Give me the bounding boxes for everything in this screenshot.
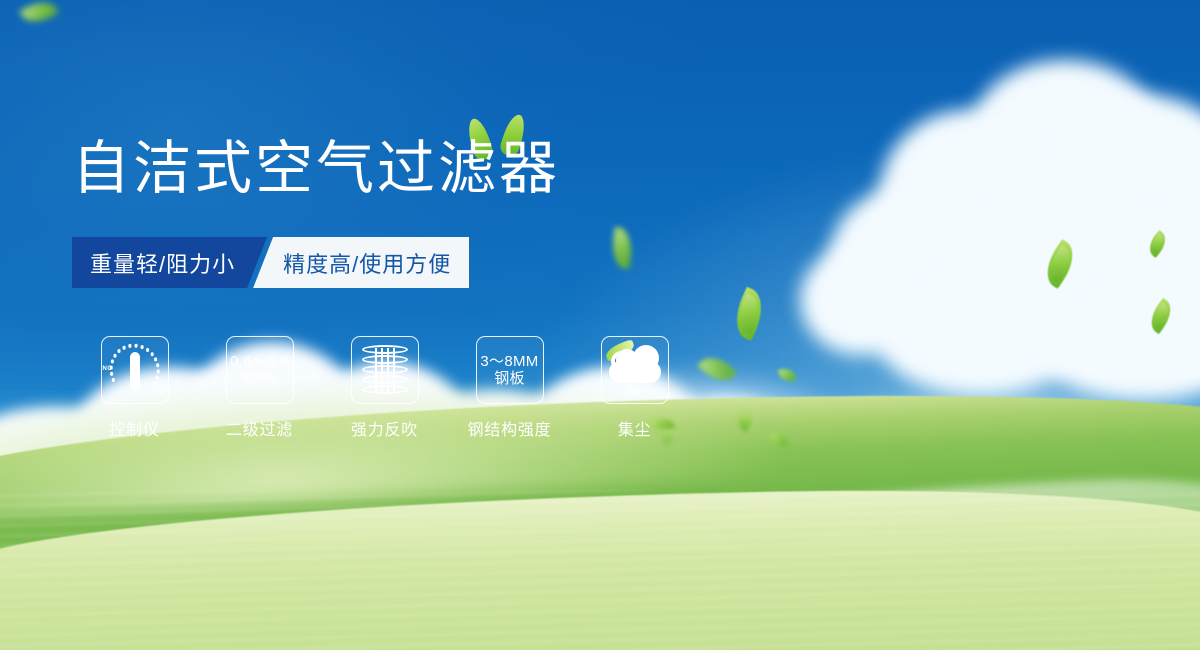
feature-icon-box: Air: [601, 336, 669, 404]
pressure-value-line2: MPA: [230, 370, 289, 387]
subtitle-panel-right: 精度高/使用方便: [253, 237, 469, 288]
feature-label: 强力反吹: [351, 416, 418, 440]
cloud-air-icon: Air: [607, 345, 663, 395]
steel-value-line2: 钢板: [480, 370, 538, 387]
steel-value-line1: 3～8MM: [480, 353, 538, 370]
subtitle-bar: 重量轻/阻力小 精度高/使用方便: [72, 237, 469, 288]
gauge-needle: [130, 352, 140, 390]
feature-item-back-blow[interactable]: 强力反吹: [322, 336, 447, 440]
feature-list: NO OFF 控制仪 0.6～0.8 MPA 二级过滤: [72, 336, 697, 440]
air-label: Air: [607, 386, 663, 398]
feature-item-steel-strength[interactable]: 3～8MM 钢板 钢结构强度: [447, 336, 572, 440]
pressure-text-icon: 0.6～0.8 MPA: [230, 353, 289, 387]
pressure-value-line1: 0.6～0.8: [230, 353, 289, 370]
feature-icon-box: [351, 336, 419, 404]
feature-icon-box: NO OFF: [101, 336, 169, 404]
product-banner: 自洁式空气过滤器 重量轻/阻力小 精度高/使用方便: [0, 0, 1200, 650]
gauge-label-no: NO: [103, 366, 113, 372]
feature-label: 二级过滤: [226, 416, 293, 440]
feature-item-controller[interactable]: NO OFF 控制仪: [72, 336, 197, 440]
steel-plate-text-icon: 3～8MM 钢板: [480, 353, 538, 387]
cloud-shape: [609, 361, 661, 383]
gauge-icon: NO OFF: [105, 340, 165, 400]
gauge-label-off: OFF: [155, 390, 168, 396]
feature-icon-box: 3～8MM 钢板: [476, 336, 544, 404]
page-title: 自洁式空气过滤器: [72, 140, 560, 198]
filter-cartridge-icon: [362, 345, 408, 395]
banner-content: 自洁式空气过滤器 重量轻/阻力小 精度高/使用方便: [0, 0, 1200, 650]
feature-item-secondary-filtration[interactable]: 0.6～0.8 MPA 二级过滤: [197, 336, 322, 440]
feature-label: 集尘: [618, 416, 652, 440]
subtitle-panel-left: 重量轻/阻力小: [72, 237, 267, 288]
feature-label: 控制仪: [109, 416, 159, 440]
feature-label: 钢结构强度: [467, 416, 551, 440]
feature-icon-box: 0.6～0.8 MPA: [226, 336, 294, 404]
feature-item-dust-collection[interactable]: Air 集尘: [572, 336, 697, 440]
